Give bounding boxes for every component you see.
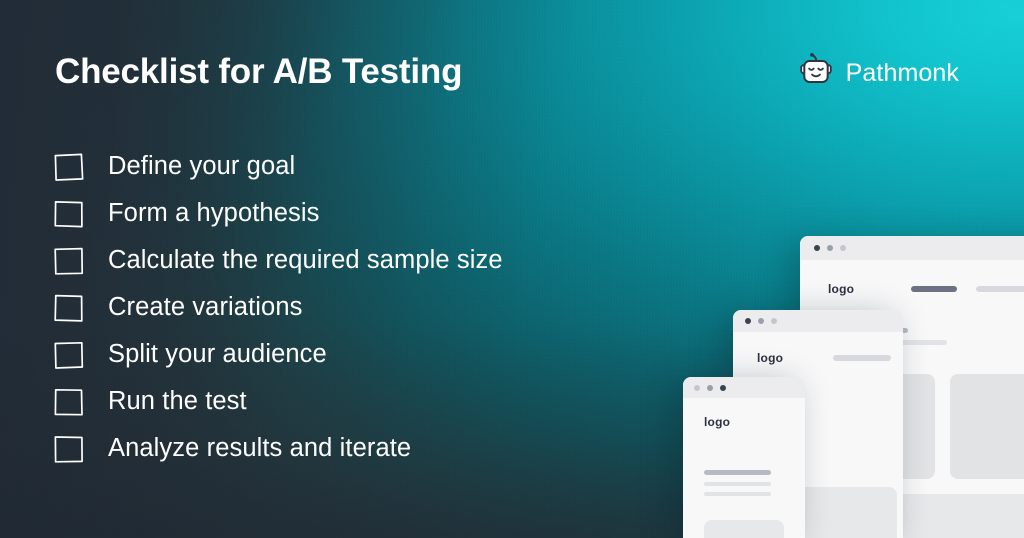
page-title: Checklist for A/B Testing [55, 52, 462, 92]
empty-checkbox-icon[interactable] [52, 245, 86, 277]
empty-checkbox-icon[interactable] [52, 292, 86, 324]
empty-checkbox-icon[interactable] [52, 151, 86, 183]
empty-checkbox-icon[interactable] [52, 433, 86, 465]
empty-checkbox-icon[interactable] [52, 339, 86, 371]
brand-name: Pathmonk [846, 59, 959, 88]
checklist-item-label: Define your goal [108, 152, 295, 181]
checklist-item-label: Split your audience [108, 340, 327, 369]
checklist-item[interactable]: Analyze results and iterate [52, 432, 503, 465]
slide-canvas: logo logo [0, 0, 1024, 538]
checklist-item[interactable]: Split your audience [52, 338, 503, 371]
checklist-item-label: Analyze results and iterate [108, 434, 411, 463]
checklist-item-label: Form a hypothesis [108, 199, 319, 228]
robot-head-icon [797, 52, 835, 95]
checklist: Define your goal Form a hypothesis Calcu… [52, 150, 503, 465]
checklist-item-label: Create variations [108, 293, 302, 322]
checklist-item[interactable]: Define your goal [52, 150, 503, 183]
empty-checkbox-icon[interactable] [52, 198, 86, 230]
checklist-item-label: Run the test [108, 387, 247, 416]
checklist-item[interactable]: Form a hypothesis [52, 197, 503, 230]
checklist-item[interactable]: Calculate the required sample size [52, 244, 503, 277]
checklist-item-label: Calculate the required sample size [108, 246, 503, 275]
empty-checkbox-icon[interactable] [52, 386, 86, 418]
checklist-item[interactable]: Create variations [52, 291, 503, 324]
brand-logo: Pathmonk [797, 52, 959, 95]
checklist-item[interactable]: Run the test [52, 385, 503, 418]
